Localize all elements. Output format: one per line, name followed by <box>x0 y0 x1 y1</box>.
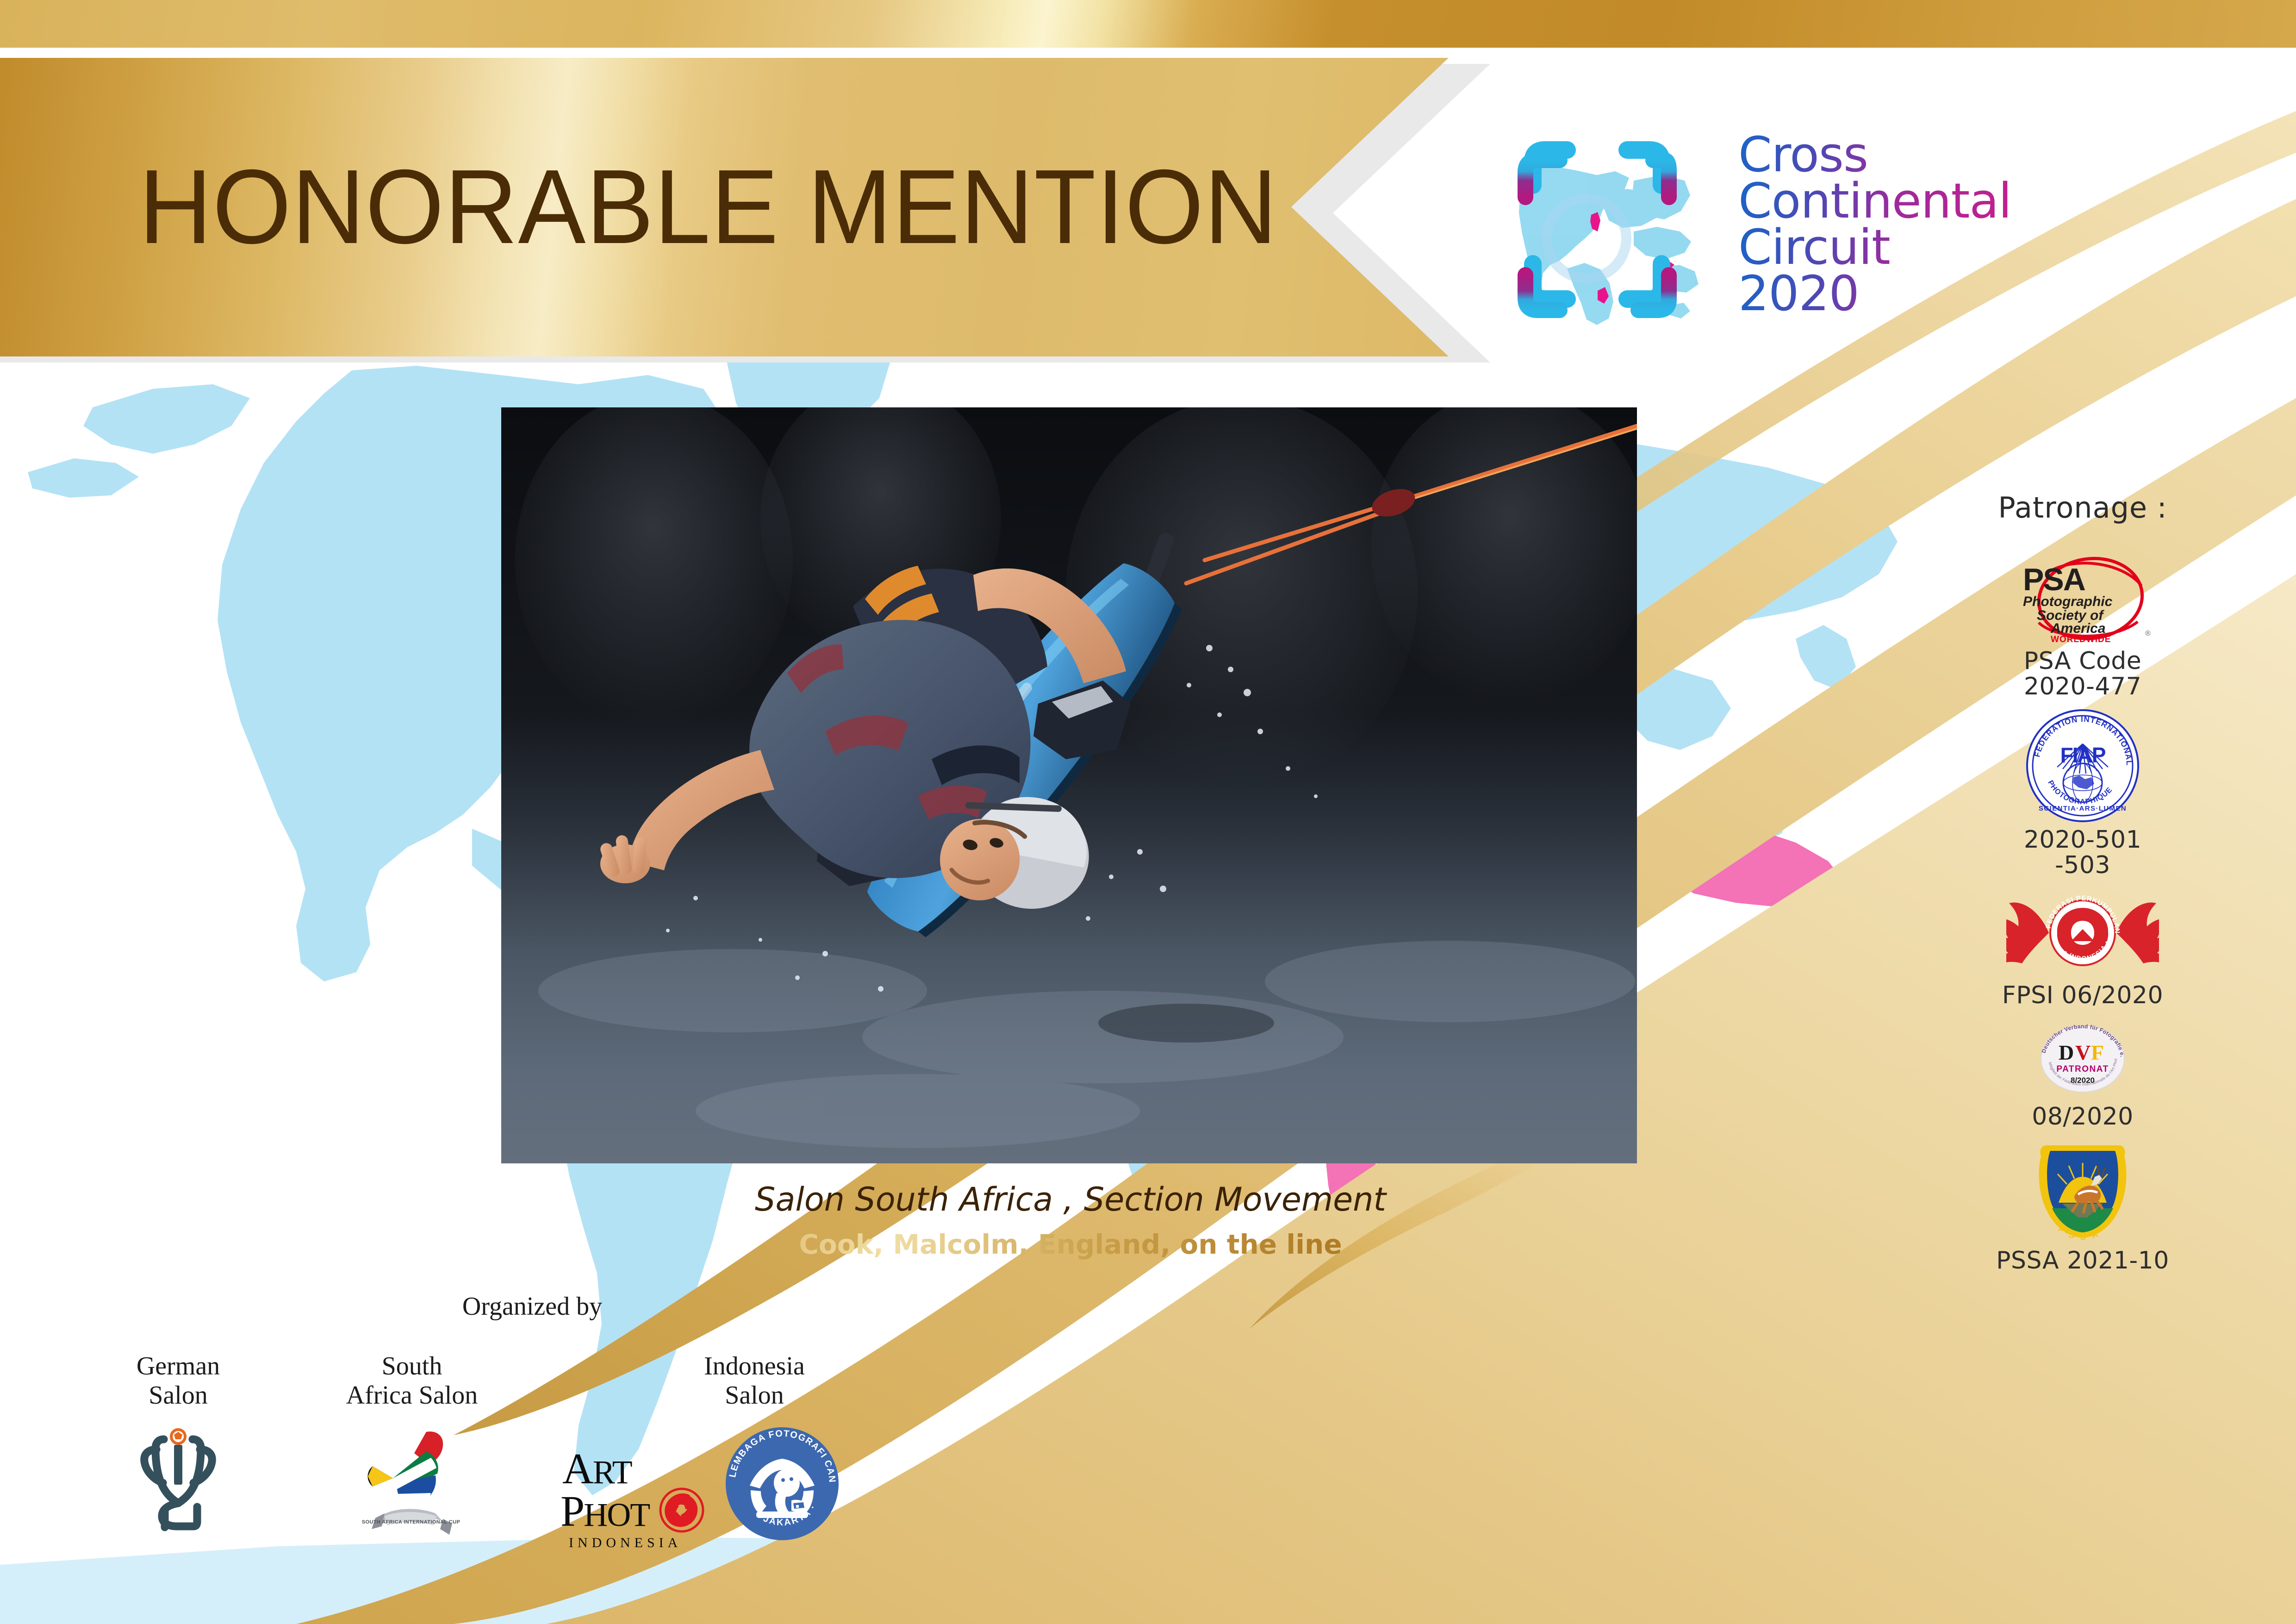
logo-line-1: Cross <box>1738 132 2011 178</box>
svg-text:8/2020: 8/2020 <box>2071 1076 2095 1085</box>
awarded-photograph <box>501 407 1637 1163</box>
patronage-item-fpsi: FEDERASI PERKUMPULAN SENI FOTO • INDONES… <box>1935 887 2231 1008</box>
caption-author-title: Cook, Malcolm, England, on the line <box>501 1229 1640 1260</box>
logo-line-2: Continental <box>1738 178 2011 225</box>
organizer-german-salon: German Salon <box>102 1352 255 1539</box>
svg-text:®: ® <box>2145 630 2151 637</box>
cross-continental-circuit-logo: Cross Continental Circuit 2020 <box>1481 116 2240 333</box>
event-title-text: Cross Continental Circuit 2020 <box>1738 132 2011 317</box>
patronage-item-psa: PSA Photographic Society of America WORL… <box>1935 552 2231 700</box>
world-map-bracket-icon <box>1481 116 1722 333</box>
organizer-indonesia-salon: Indonesia Salon LEMBAGA FOTOGRAFI CANDRA… <box>662 1352 847 1544</box>
dvf-logo-icon: Deutscher Verband für Fotografie e.V. Mi… <box>1935 1017 2231 1100</box>
fiap-code: 2020-501 -503 <box>1935 827 2231 878</box>
svg-text:PHOT: PHOT <box>560 1487 650 1536</box>
svg-text:Photographic: Photographic <box>2023 594 2113 609</box>
pssa-code: PSSA 2021-10 <box>1935 1248 2231 1274</box>
fpsi-logo-icon: FEDERASI PERKUMPULAN SENI FOTO • INDONES… <box>1935 887 2231 979</box>
patronage-item-dvf: Deutscher Verband für Fotografie e.V. Mi… <box>1935 1017 2231 1130</box>
indonesia-salon-label: Indonesia Salon <box>662 1352 847 1410</box>
svg-text:SCIENTIA·ARS·LUMEN: SCIENTIA·ARS·LUMEN <box>2039 805 2127 812</box>
organizers-section: Organized by German Salon <box>83 1282 1009 1616</box>
logo-line-4: 2020 <box>1738 271 2011 317</box>
svg-text:PSA: PSA <box>2023 562 2085 597</box>
patronage-heading: Patronage : <box>1935 491 2231 525</box>
german-salon-label: German Salon <box>102 1352 255 1410</box>
south-africa-salon-label: South Africa Salon <box>315 1352 509 1410</box>
german-salon-trophy-icon <box>102 1424 255 1539</box>
patronage-item-fiap: FEDERATION INTERNATIONALE DE L'ART PHOTO… <box>1935 708 2231 878</box>
patronage-section: Patronage : PSA Photographic Society of … <box>1935 491 2231 1282</box>
logo-line-3: Circuit <box>1738 225 2011 271</box>
svg-text:ART: ART <box>562 1445 632 1493</box>
organized-by-heading: Organized by <box>440 1292 625 1321</box>
svg-text:SOUTH AFRICA INTERNATIONAL CUP: SOUTH AFRICA INTERNATIONAL CUP <box>362 1519 460 1525</box>
photo-caption: Salon South Africa , Section Movement Co… <box>501 1181 1640 1260</box>
psa-logo-icon: PSA Photographic Society of America WORL… <box>1935 552 2231 645</box>
page-title: HONORABLE MENTION <box>139 58 1250 356</box>
fiap-logo-icon: FEDERATION INTERNATIONALE DE L'ART PHOTO… <box>1935 708 2231 824</box>
fpsi-code: FPSI 06/2020 <box>1935 983 2231 1008</box>
svg-text:F: F <box>2091 1041 2104 1064</box>
top-gold-bar <box>0 0 2296 48</box>
lembaga-fotografi-candra-naya-jakarta-icon: LEMBAGA FOTOGRAFI CANDRA NAYA · JAKARTA … <box>717 1424 847 1544</box>
dvf-code: 08/2020 <box>1935 1104 2231 1130</box>
pssa-logo-icon: P·S·S·A <box>1935 1138 2231 1244</box>
svg-text:America: America <box>2050 621 2105 636</box>
certificate-page: HONORABLE MENTION <box>0 0 2296 1624</box>
patronage-item-pssa: P·S·S·A PSSA 2021-10 <box>1935 1138 2231 1274</box>
organizer-south-africa-salon: South Africa Salon SOUTH AFRICA INTERN <box>315 1352 509 1539</box>
svg-text:WORLDWIDE: WORLDWIDE <box>2051 635 2111 644</box>
south-africa-salon-flag-shield-icon: SOUTH AFRICA INTERNATIONAL CUP <box>315 1424 509 1539</box>
caption-salon-section: Salon South Africa , Section Movement <box>501 1181 1640 1218</box>
psa-code: PSA Code 2020-477 <box>1935 649 2231 700</box>
svg-text:PATRONAT: PATRONAT <box>2056 1064 2109 1074</box>
svg-text:D: D <box>2059 1041 2074 1064</box>
svg-text:V: V <box>2075 1041 2091 1064</box>
